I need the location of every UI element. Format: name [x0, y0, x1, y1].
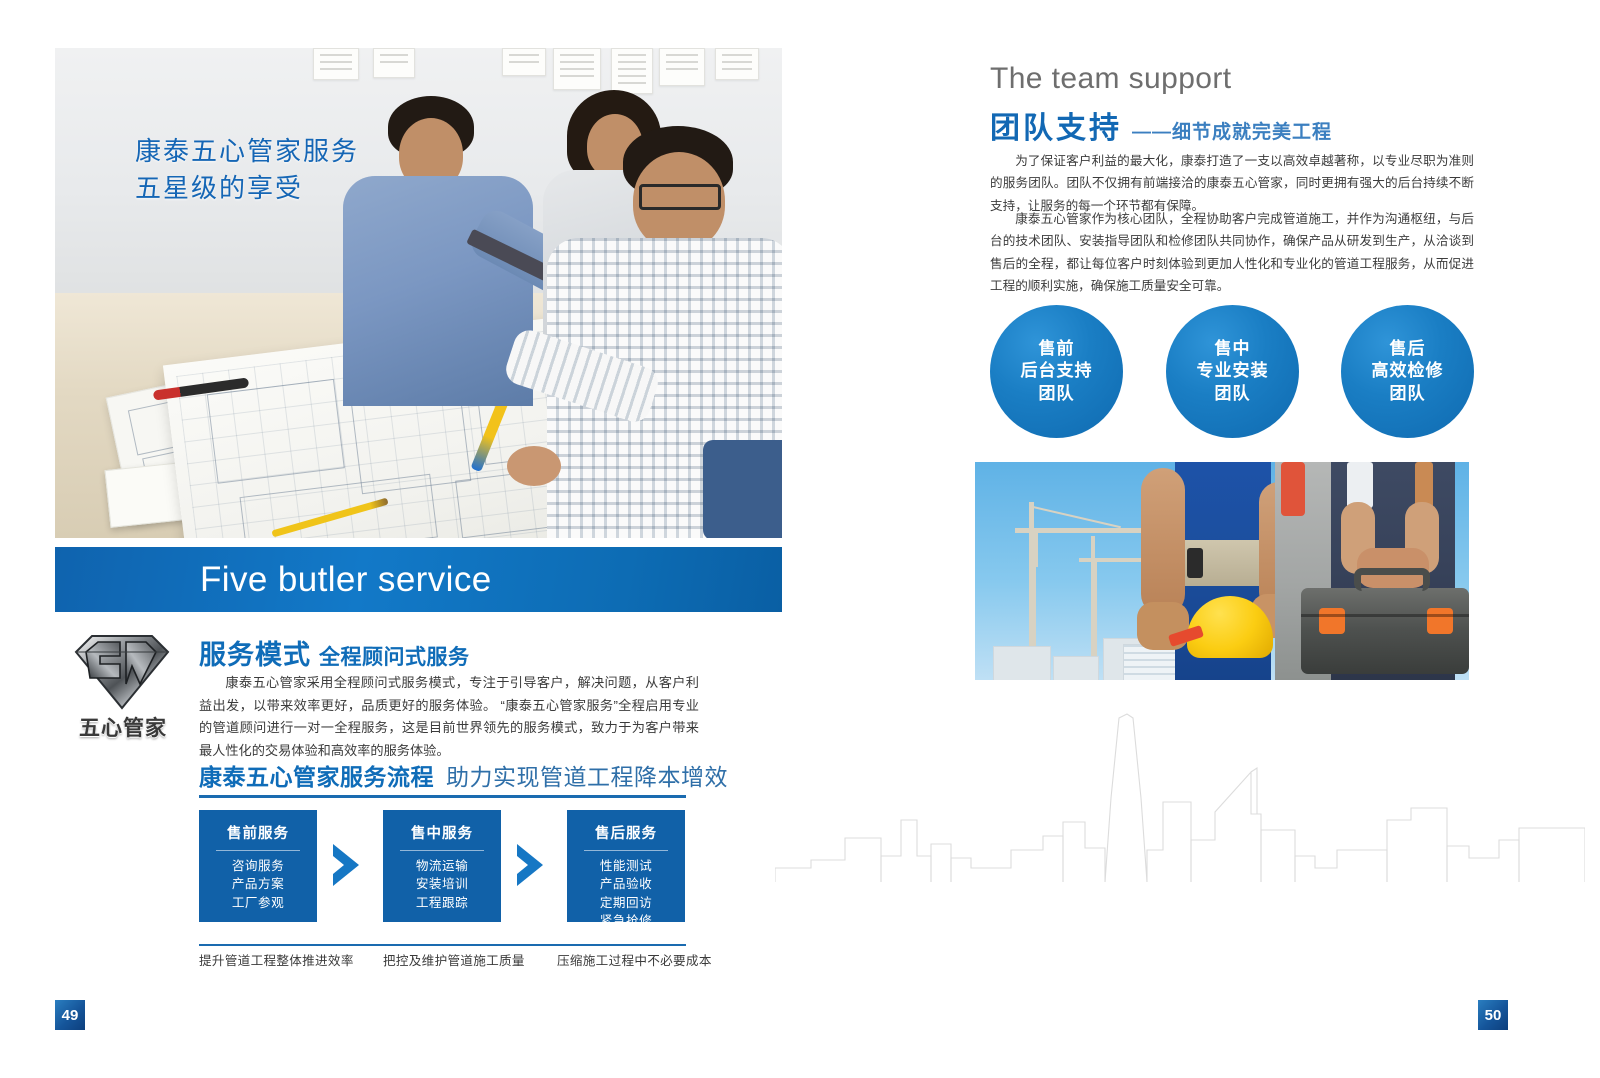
page-number-left: 49	[55, 1000, 85, 1030]
flow-box-divider	[584, 850, 668, 851]
team-support-paragraph-2: 康泰五心管家作为核心团队，全程协助客户完成管道施工，并作为沟通枢纽，与后台的技术…	[990, 208, 1474, 298]
chevron-right-icon	[511, 842, 551, 888]
team-circle-aftersale: 售后 高效检修 团队	[1341, 305, 1474, 438]
circle-line: 售后	[1372, 338, 1444, 361]
circle-line: 专业安装	[1197, 360, 1269, 383]
toolbox-latch	[1427, 608, 1453, 634]
flow-box-title: 售中服务	[383, 810, 501, 843]
team-circles: 售前 后台支持 团队 售中 专业安装 团队 售后 高效检修 团队	[990, 305, 1474, 440]
hero-title: 康泰五心管家服务 五星级的享受	[135, 133, 359, 207]
wall-notice	[373, 48, 415, 78]
process-divider	[199, 795, 686, 798]
flow-item: 性能测试	[567, 857, 685, 875]
flow-box-title: 售前服务	[199, 810, 317, 843]
flow-item: 紧急抢修	[567, 912, 685, 930]
wall-notice	[553, 48, 601, 90]
building	[993, 646, 1051, 680]
flow-caption: 压缩施工过程中不必要成本	[557, 950, 712, 969]
flow-item: 定期回访	[567, 894, 685, 912]
service-mode-title: 服务模式	[199, 640, 311, 670]
flow-caption: 提升管道工程整体推进效率	[199, 950, 354, 969]
circle-line: 团队	[1197, 383, 1269, 406]
circle-line: 团队	[1021, 383, 1093, 406]
hero-title-line1: 康泰五心管家服务	[135, 133, 359, 170]
wall-notice	[659, 48, 705, 86]
building	[1053, 656, 1099, 680]
circle-line: 高效检修	[1372, 360, 1444, 383]
team-support-tagline: ——细节成就完美工程	[1132, 122, 1332, 143]
flow-item: 工程跟踪	[383, 894, 501, 912]
team-circle-presale: 售前 后台支持 团队	[990, 305, 1123, 438]
process-subtitle: 助力实现管道工程降本增效	[446, 764, 728, 790]
flow-caption: 把控及维护管道施工质量	[383, 950, 525, 969]
flow-box-divider	[400, 850, 484, 851]
process-title: 康泰五心管家服务流程	[199, 764, 434, 790]
flow-box-presale: 售前服务 咨询服务 产品方案 工厂参观	[199, 810, 317, 922]
flow-box-divider	[216, 850, 300, 851]
wall-notice	[313, 48, 359, 80]
flow-box-aftersale: 售后服务 性能测试 产品验收 定期回访 紧急抢修	[567, 810, 685, 922]
diamond-gem-icon	[70, 632, 174, 712]
toolbox-latch	[1319, 608, 1345, 634]
flow-item: 产品验收	[567, 875, 685, 893]
page-number-right: 50	[1478, 1000, 1508, 1030]
flow-item: 产品方案	[199, 875, 317, 893]
wall-notice	[502, 48, 546, 76]
crane-hook	[1035, 533, 1038, 567]
construction-workers-photo	[975, 462, 1469, 680]
toolbox-handle	[1354, 568, 1430, 591]
hero-title-line2: 五星级的享受	[135, 170, 359, 207]
chevron-right-icon	[327, 842, 367, 888]
team-circle-insale: 售中 专业安装 团队	[1166, 305, 1299, 438]
flow-box-title: 售后服务	[567, 810, 685, 843]
wall-notice	[611, 48, 653, 94]
logo-text: 五心管家	[58, 712, 188, 742]
banner-title: Five butler service	[200, 560, 492, 600]
crane-brace	[1091, 536, 1095, 560]
toolbox	[1301, 588, 1469, 674]
service-mode-subtitle: 全程顾问式服务	[319, 646, 470, 669]
circle-line: 售中	[1197, 338, 1269, 361]
flow-item: 物流运输	[383, 857, 501, 875]
caption-divider	[199, 944, 686, 946]
circle-line: 售前	[1021, 338, 1093, 361]
wall-notice	[715, 48, 759, 80]
service-mode-body: 康泰五心管家采用全程顾问式服务模式，专注于引导客户，解决问题，从客户利益出发，以…	[199, 672, 699, 763]
flow-item: 安装培训	[383, 875, 501, 893]
team-support-heading-en: The team support	[990, 62, 1232, 96]
hero-photo-team-blueprint: 康泰五心管家服务 五星级的享受	[55, 48, 782, 538]
circle-line: 团队	[1372, 383, 1444, 406]
team-support-title: 团队支持	[990, 112, 1122, 145]
process-flow: 售前服务 咨询服务 产品方案 工厂参观 售中服务 物流运输 安装培训 工程跟踪	[199, 810, 686, 922]
circle-line: 后台支持	[1021, 360, 1093, 383]
service-mode-heading: 服务模式全程顾问式服务	[199, 633, 470, 672]
team-support-heading-cn: 团队支持——细节成就完美工程	[990, 103, 1332, 147]
process-heading: 康泰五心管家服务流程助力实现管道工程降本增效	[199, 758, 728, 792]
left-page: 康泰五心管家服务 五星级的享受 Five butler service	[0, 0, 790, 1078]
five-heart-butler-logo: 五心管家	[58, 630, 188, 750]
city-skyline-outline	[775, 700, 1585, 885]
five-butler-banner: Five butler service	[55, 547, 782, 612]
flow-item: 工厂参观	[199, 894, 317, 912]
brochure-spread: 康泰五心管家服务 五星级的享受 Five butler service	[0, 0, 1600, 1078]
flow-item: 咨询服务	[199, 857, 317, 875]
flow-box-insale: 售中服务 物流运输 安装培训 工程跟踪	[383, 810, 501, 922]
